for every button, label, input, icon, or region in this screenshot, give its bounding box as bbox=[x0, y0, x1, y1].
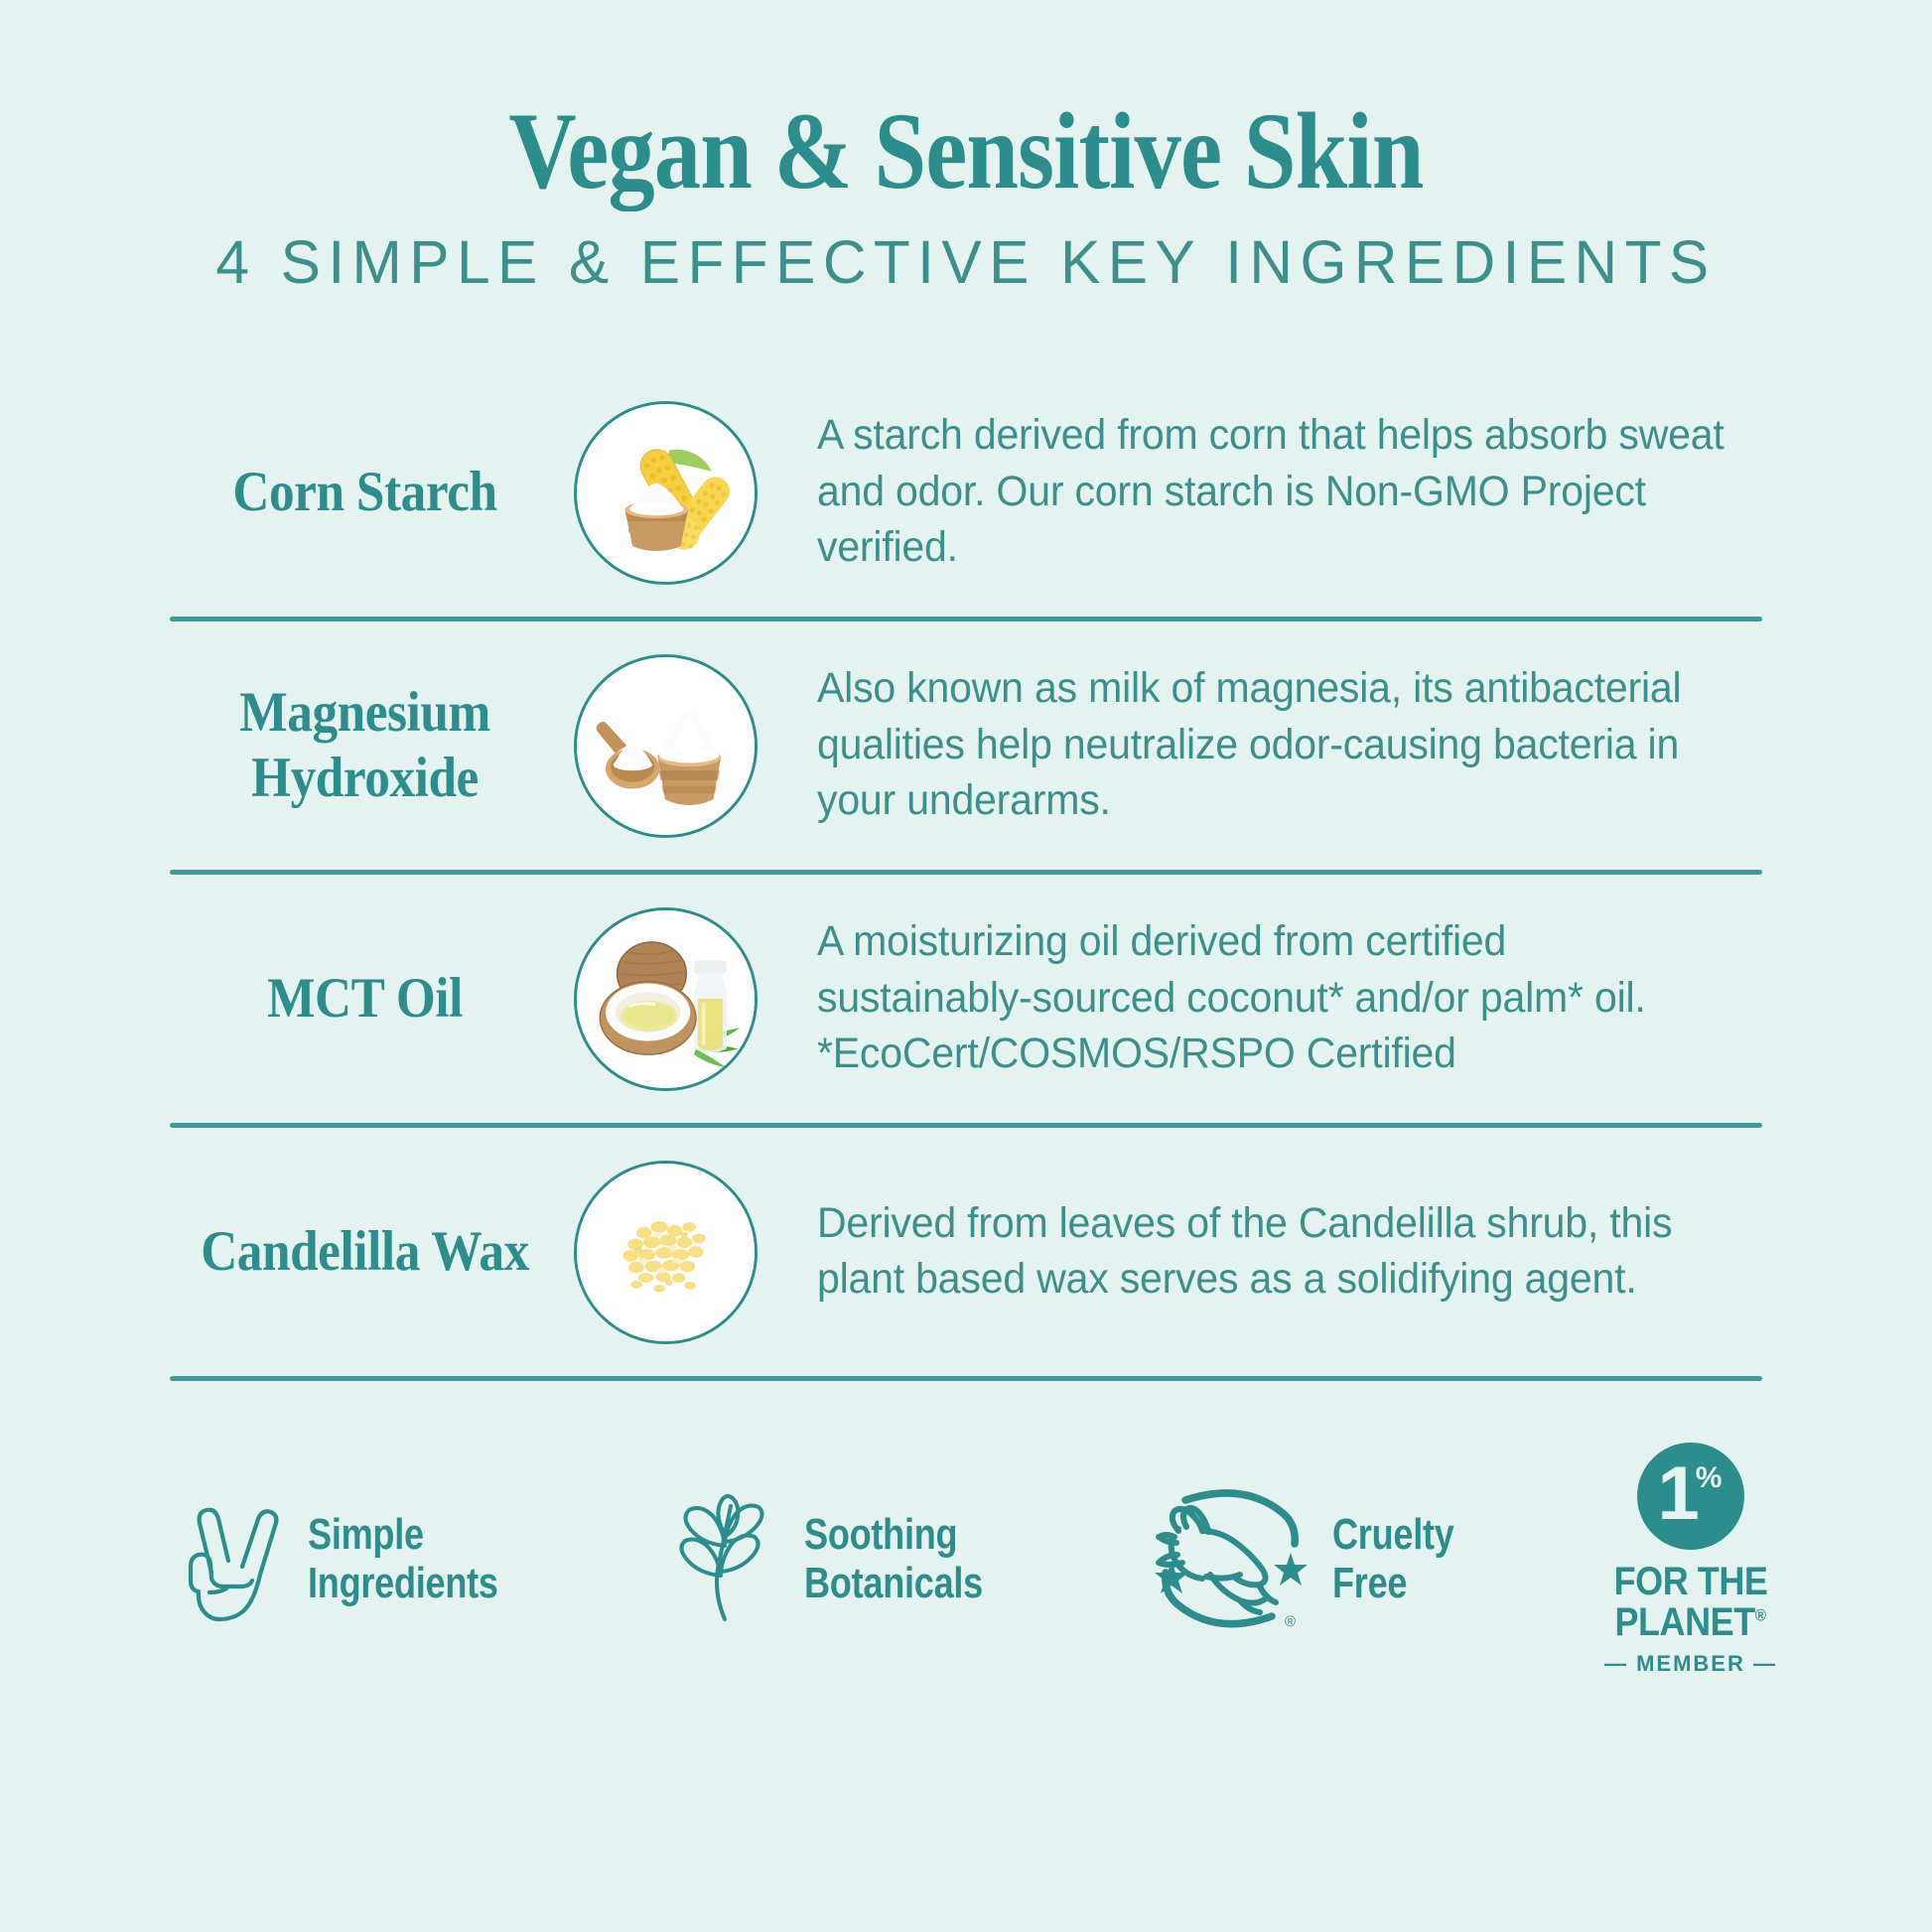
badge-soothing-botanicals: Soothing Botanicals bbox=[663, 1486, 1023, 1630]
planet-line-1: FOR THE bbox=[1614, 1562, 1768, 1602]
percent-symbol: % bbox=[1696, 1461, 1723, 1495]
peace-hand-icon bbox=[179, 1489, 298, 1628]
mct-oil-image bbox=[574, 907, 758, 1091]
magnesium-hydroxide-image bbox=[574, 654, 758, 838]
planet-line-2: PLANET® bbox=[1615, 1602, 1766, 1643]
registered-mark: ® bbox=[1755, 1606, 1766, 1625]
ingredient-name: Candelilla Wax bbox=[193, 1219, 537, 1286]
page-subtitle: 4 SIMPLE & EFFECTIVE KEY INGREDIENTS bbox=[10, 232, 1923, 293]
infographic-page: Vegan & Sensitive Skin 4 SIMPLE & EFFECT… bbox=[0, 0, 1932, 1932]
ingredient-name: MCT Oil bbox=[193, 966, 537, 1033]
ingredient-description: Derived from leaves of the Candelilla sh… bbox=[817, 1196, 1725, 1309]
svg-text:®: ® bbox=[1285, 1613, 1296, 1630]
header: Vegan & Sensitive Skin 4 SIMPLE & EFFECT… bbox=[0, 0, 1932, 293]
ingredient-row-corn-starch: Corn Starch bbox=[0, 368, 1932, 617]
ingredient-name: Magnesium Hydroxide bbox=[193, 680, 537, 812]
corn-starch-image bbox=[574, 401, 758, 585]
ingredient-row-mct-oil: MCT Oil bbox=[0, 875, 1932, 1123]
badge-simple-ingredients: Simple Ingredients bbox=[179, 1489, 540, 1628]
page-title: Vegan & Sensitive Skin bbox=[135, 95, 1797, 207]
badge-label: Soothing Botanicals bbox=[804, 1510, 983, 1608]
ingredient-row-magnesium-hydroxide: Magnesium Hydroxide bbox=[0, 621, 1932, 870]
percent-value: 1 bbox=[1657, 1456, 1697, 1532]
ingredient-name: Corn Starch bbox=[193, 460, 537, 526]
ingredient-description: A moisturizing oil derived from certifie… bbox=[817, 914, 1725, 1083]
badge-one-percent-for-the-planet: 1 % FOR THE PLANET® — MEMBER — bbox=[1604, 1443, 1777, 1675]
ingredient-description: A starch derived from corn that helps ab… bbox=[817, 408, 1725, 577]
ingredient-list: Corn Starch bbox=[0, 368, 1932, 1381]
leaping-bunny-icon: ® bbox=[1145, 1469, 1318, 1648]
candelilla-wax-image bbox=[574, 1161, 758, 1344]
ingredient-row-candelilla-wax: Candelilla Wax bbox=[0, 1128, 1932, 1376]
badge-label: Cruelty Free bbox=[1332, 1510, 1454, 1608]
planet-line-2-text: PLANET bbox=[1615, 1600, 1755, 1644]
one-percent-circle-icon: 1 % bbox=[1637, 1443, 1744, 1550]
badge-label: Simple Ingredients bbox=[308, 1510, 498, 1608]
badge-cruelty-free: ® Cruelty Free bbox=[1145, 1469, 1481, 1648]
leaf-sprig-icon bbox=[663, 1486, 782, 1630]
planet-member-label: — MEMBER — bbox=[1604, 1653, 1777, 1675]
badge-row: Simple Ingredients Soothing Botanicals bbox=[0, 1381, 1932, 1675]
ingredient-description: Also known as milk of magnesia, its anti… bbox=[817, 661, 1725, 830]
